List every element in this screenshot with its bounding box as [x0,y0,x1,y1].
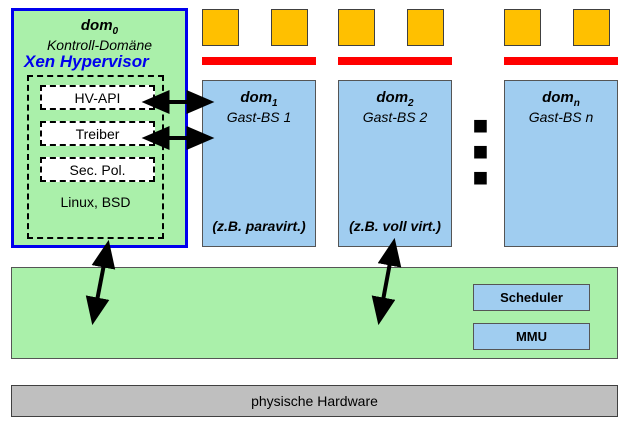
component-sec-pol: Sec. Pol. [40,157,155,182]
guest-domain-name-subscript-domn: n [574,98,580,109]
component-treiber: Treiber [40,121,155,146]
app-box-dom1-1 [202,9,239,46]
hypervisor-box: Scheduler MMU [11,267,618,359]
app-box-domn-1 [504,9,541,46]
app-box-dom2-1 [338,9,375,46]
diagram-canvas: dom0 Kontroll-Domäne HV-API Treiber Sec.… [0,0,630,423]
guest-domain-note-dom1: (z.B. paravirt.) [203,218,315,234]
app-box-domn-2 [573,9,610,46]
separator-bar-dom1 [202,57,316,65]
component-hv-api: HV-API [40,85,155,110]
guest-domain-name-subscript-dom1: 1 [272,98,278,109]
separator-bar-dom2 [338,57,452,65]
guest-domain-title-dom1: dom1 [203,89,315,109]
hypervisor-module-scheduler: Scheduler [473,284,590,311]
control-domain-name: dom [81,17,113,34]
control-domain-stack: HV-API Treiber Sec. Pol. Linux, BSD [27,75,164,239]
guest-domain-os-label-dom2: Gast-BS 2 [339,109,451,125]
guest-domain-os-label-domn: Gast-BS n [505,109,617,125]
app-box-dom1-2 [271,9,308,46]
control-domain-title: dom0 [14,17,185,38]
guest-domain-title-dom2: dom2 [339,89,451,109]
control-domain-role: Kontroll-Domäne [14,37,185,53]
guest-domain-box-dom1: dom1 Gast-BS 1 (z.B. paravirt.) [202,80,316,247]
ellipsis-more-domains: ■ ■ ■ [460,112,504,190]
guest-domain-title-domn: domn [505,89,617,109]
control-domain-box: dom0 Kontroll-Domäne HV-API Treiber Sec.… [11,8,188,248]
hypervisor-label: Xen Hypervisor [24,52,149,72]
guest-domain-name-dom1: dom [240,89,272,106]
guest-domain-name-subscript-dom2: 2 [408,98,414,109]
guest-domain-name-dom2: dom [376,89,408,106]
separator-bar-domn [504,57,618,65]
control-domain-name-subscript: 0 [113,26,119,37]
guest-domain-name-domn: dom [542,89,574,106]
control-domain-os-label: Linux, BSD [29,194,162,210]
hypervisor-module-mmu: MMU [473,323,590,350]
physical-hardware-box: physische Hardware [11,385,618,417]
app-box-dom2-2 [407,9,444,46]
guest-domain-box-domn: domn Gast-BS n [504,80,618,247]
guest-domain-os-label-dom1: Gast-BS 1 [203,109,315,125]
guest-domain-box-dom2: dom2 Gast-BS 2 (z.B. voll virt.) [338,80,452,247]
guest-domain-note-dom2: (z.B. voll virt.) [339,218,451,234]
